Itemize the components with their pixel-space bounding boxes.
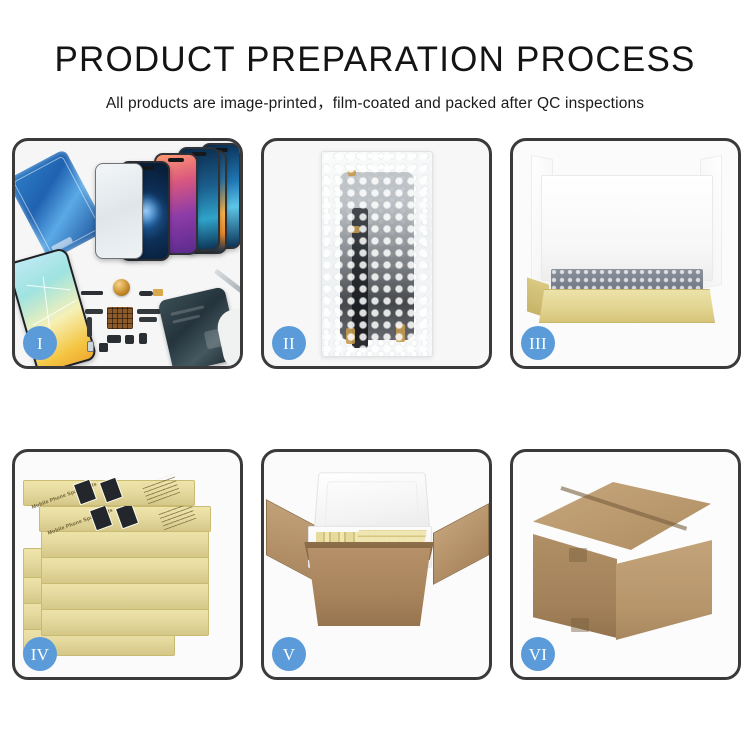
step-panel-3: III — [510, 138, 741, 369]
yellow-box-front-icon — [539, 289, 715, 323]
step-badge-3: III — [521, 326, 555, 360]
page-subtitle: All products are image-printed，film-coat… — [0, 91, 750, 113]
carton-tab-lower-icon — [571, 618, 589, 632]
carton-body-icon — [302, 548, 436, 626]
blue-lcd-assembly-icon — [15, 149, 108, 261]
ribbon-cable-part-icon — [139, 317, 157, 322]
gold-contact-bottom-left-icon — [346, 328, 355, 344]
bubble-wrap-bag-icon — [321, 151, 433, 357]
stacked-boxes-icon: Mobile Phone Spare Parts Mobile Phone Sp… — [23, 476, 233, 656]
chip-grid-part-icon — [107, 307, 133, 329]
step-badge-4: IV — [23, 637, 57, 671]
box-spec-lines-upper — [142, 474, 181, 504]
step-panel-2: II — [261, 138, 492, 369]
step-panel-6: VI — [510, 449, 741, 680]
flex-cable-vertical-part-icon — [87, 317, 92, 337]
sim-tray-part-icon — [87, 341, 94, 352]
flex-cable-part-icon — [85, 309, 103, 314]
box-window-upper-2 — [99, 477, 123, 504]
step-panel-4: Mobile Phone Spare Parts Mobile Phone Sp… — [12, 449, 243, 680]
carton-flap-right-icon — [433, 503, 489, 585]
step-badge-1: I — [23, 326, 57, 360]
camera-module-part-icon — [139, 333, 147, 344]
carton-top-face-icon — [533, 482, 711, 550]
step-badge-6: VI — [521, 637, 555, 671]
step-panel-5: V — [261, 449, 492, 680]
carton-tab-upper-icon — [569, 548, 587, 562]
vibrator-part-icon — [125, 335, 134, 344]
step-panel-1: I — [12, 138, 243, 369]
speaker-part-icon — [107, 335, 121, 343]
gold-contact-bottom-right-icon — [396, 324, 405, 342]
copper-disc-part-icon — [113, 279, 130, 296]
gold-pad-part-icon — [153, 289, 163, 296]
screw-set-part-icon — [99, 343, 108, 352]
connector-bar-part-icon — [81, 291, 103, 295]
carton-right-face-icon — [616, 540, 712, 640]
step-badge-2: II — [272, 326, 306, 360]
box-window-lower-2 — [115, 503, 139, 530]
foam-sheet-icon — [541, 175, 713, 281]
page-title: PRODUCT PREPARATION PROCESS — [0, 40, 750, 80]
product-preparation-infographic: PRODUCT PREPARATION PROCESS All products… — [0, 0, 750, 750]
antenna-flex-part-icon — [137, 309, 161, 314]
steps-grid: I II — [12, 138, 738, 683]
tempered-glass-sheet-icon — [95, 163, 143, 259]
gold-contact-mid-icon — [350, 226, 360, 233]
small-flex-part-icon — [139, 291, 153, 296]
gold-contact-top-icon — [348, 170, 356, 176]
step-badge-5: V — [272, 637, 306, 671]
header: PRODUCT PREPARATION PROCESS All products… — [0, 0, 750, 113]
